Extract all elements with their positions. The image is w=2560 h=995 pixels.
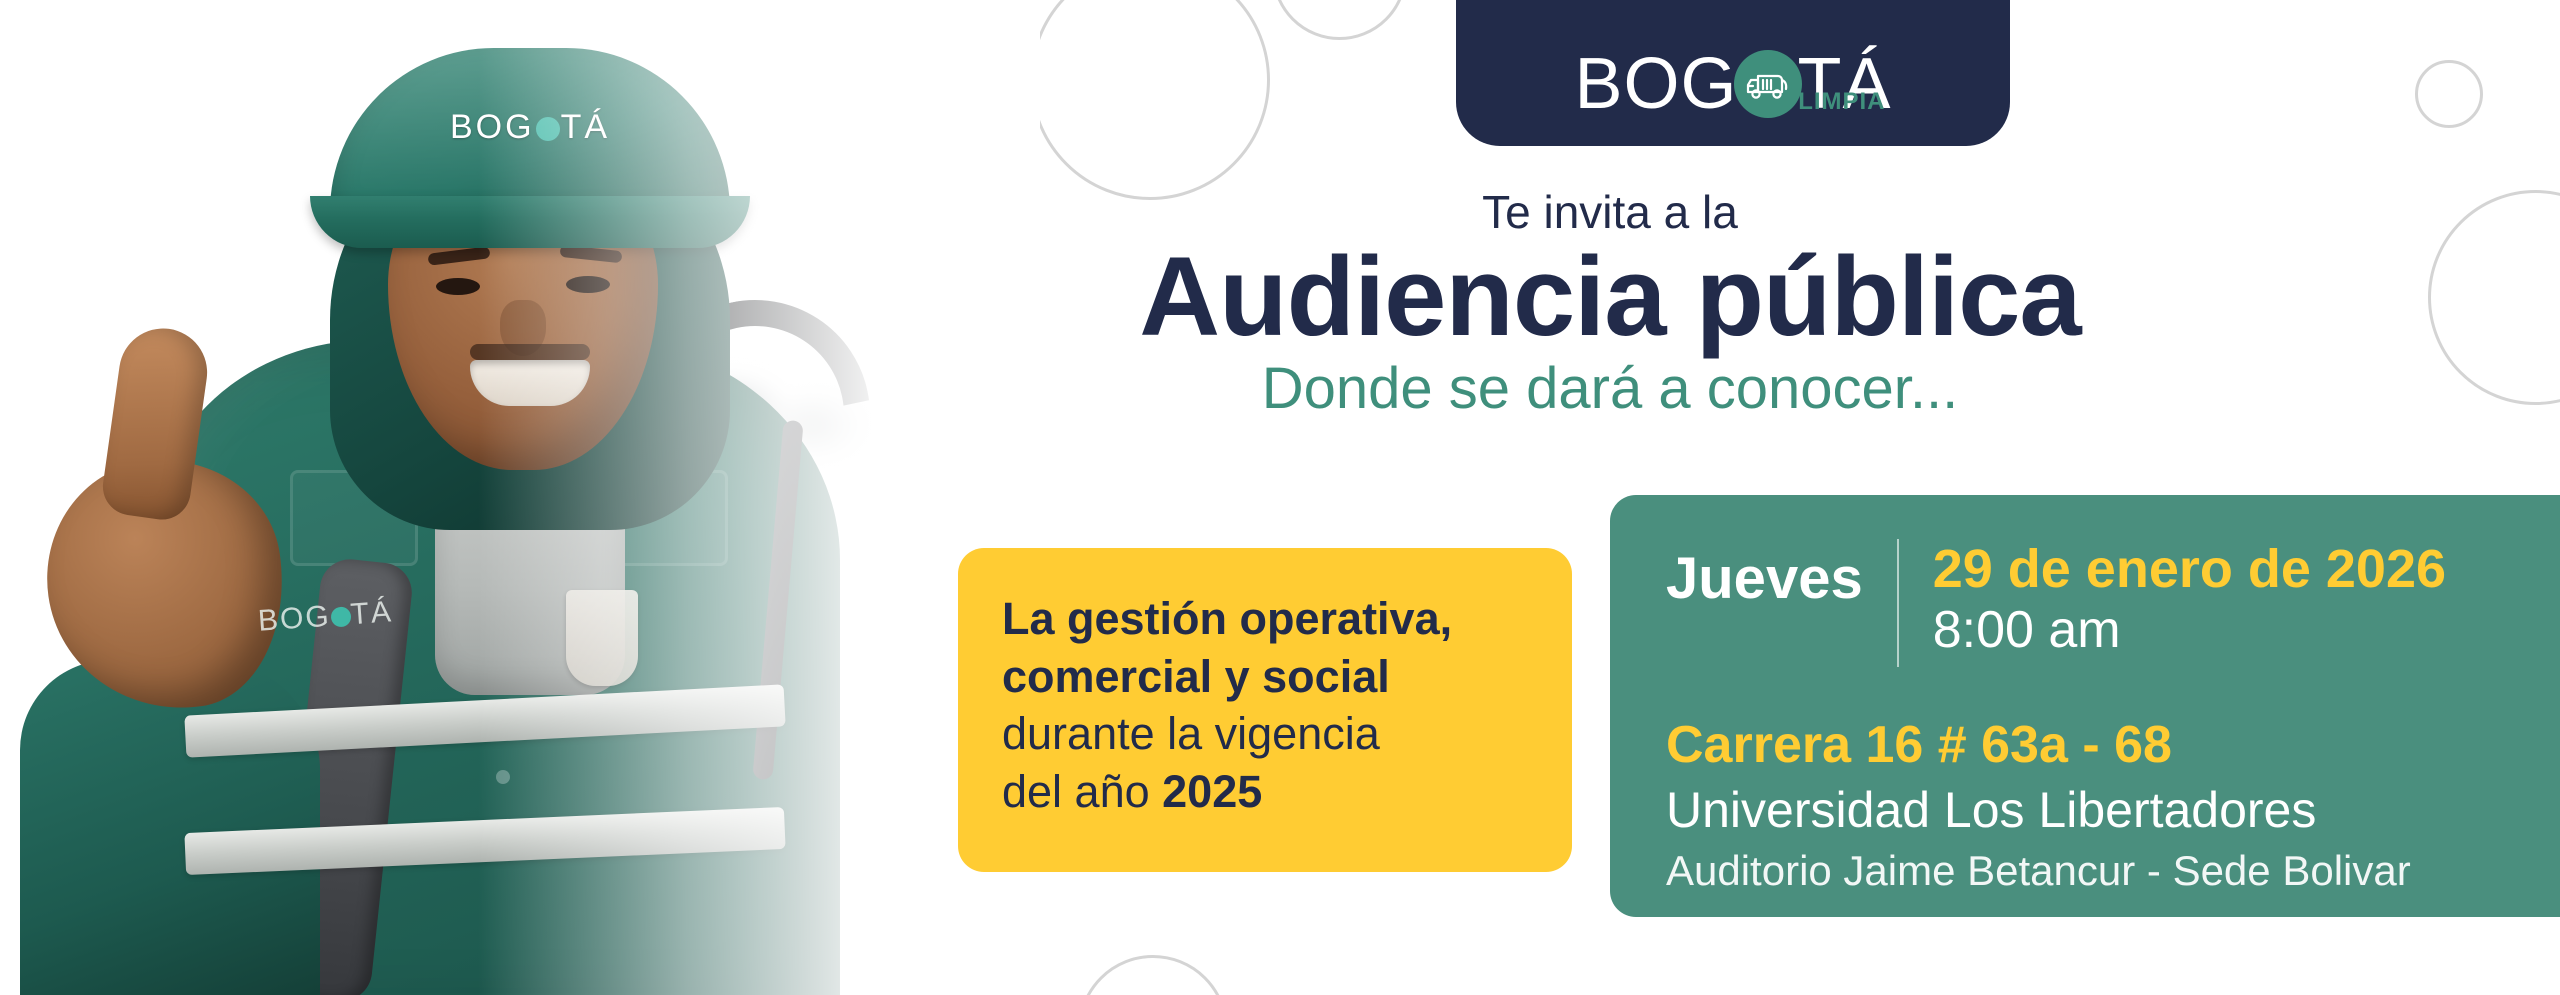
event-venue-room: Auditorio Jaime Betancur - Sede Bolivar — [1666, 843, 2560, 900]
photo-uniform-logo-suffix: TÁ — [349, 595, 394, 631]
decorative-circle-icon — [1272, 0, 1407, 40]
photo-cap-logo-dot-icon — [536, 117, 560, 141]
photo-chest-badge — [566, 590, 638, 686]
photo-smile — [470, 360, 590, 406]
topic-line-2: comercial y social — [1002, 648, 1524, 706]
invite-kicker: Te invita a la — [1020, 185, 2200, 239]
event-day: Jueves — [1666, 539, 1897, 612]
logo-text-prefix: BOG — [1574, 48, 1737, 120]
bogota-limpia-logo: BOG TÁ LIMPIA — [1456, 0, 2010, 146]
topic-card: La gestión operativa, comercial y social… — [958, 548, 1572, 872]
decorative-circle-icon — [2428, 190, 2560, 405]
event-venue-name: Universidad Los Libertadores — [1666, 778, 2560, 843]
garbage-truck-glyph — [1745, 67, 1791, 101]
page-title: Audiencia pública — [1020, 238, 2200, 356]
event-details-card: Jueves 29 de enero de 2026 8:00 am Carre… — [1610, 495, 2560, 917]
photo-cap-brim — [310, 196, 750, 248]
photo-jacket-button — [496, 770, 510, 784]
photo-cap-logo-suffix: TÁ — [561, 108, 610, 146]
logo-subtitle: LIMPIA — [1798, 88, 1885, 116]
logo-lockup: BOG TÁ LIMPIA — [1574, 48, 1891, 120]
topic-line-2-text: comercial y social — [1002, 651, 1390, 702]
photo-uniform-logo-dot-icon — [330, 606, 351, 627]
photo-eye — [436, 278, 480, 295]
photo-worker-figure: BOGTÁ BOGTÁ — [0, 0, 1040, 995]
photo-uniform-logo-prefix: BOG — [257, 600, 332, 638]
decorative-circle-icon — [1030, 0, 1270, 200]
event-datetime-group: 29 de enero de 2026 8:00 am — [1933, 539, 2446, 662]
event-datetime-row: Jueves 29 de enero de 2026 8:00 am — [1666, 539, 2560, 667]
photo-cap-logo: BOGTÁ — [392, 108, 668, 147]
topic-line-4-prefix: del año — [1002, 766, 1162, 817]
hero-photo: BOGTÁ BOGTÁ — [0, 0, 1040, 995]
event-venue-group: Carrera 16 # 63a - 68 Universidad Los Li… — [1666, 713, 2560, 900]
photo-cap-logo-prefix: BOG — [450, 108, 535, 146]
topic-line-3: durante la vigencia — [1002, 705, 1524, 763]
topic-line-1: La gestión operativa, — [1002, 590, 1524, 648]
page-subtitle: Donde se dará a conocer... — [1020, 355, 2200, 422]
event-banner: BOGTÁ BOGTÁ BOG — [0, 0, 2560, 995]
garbage-truck-icon — [1734, 50, 1802, 118]
topic-line-4: del año 2025 — [1002, 763, 1524, 821]
topic-line-1-text: La gestión operativa, — [1002, 593, 1452, 644]
decorative-circle-icon — [2415, 60, 2483, 128]
event-time: 8:00 am — [1933, 599, 2446, 661]
vertical-divider — [1897, 539, 1899, 667]
event-address: Carrera 16 # 63a - 68 — [1666, 713, 2560, 778]
photo-eye — [566, 276, 610, 293]
topic-year: 2025 — [1162, 766, 1262, 817]
photo-mustache — [470, 344, 590, 360]
event-date: 29 de enero de 2026 — [1933, 539, 2446, 599]
decorative-circle-icon — [1078, 955, 1228, 995]
